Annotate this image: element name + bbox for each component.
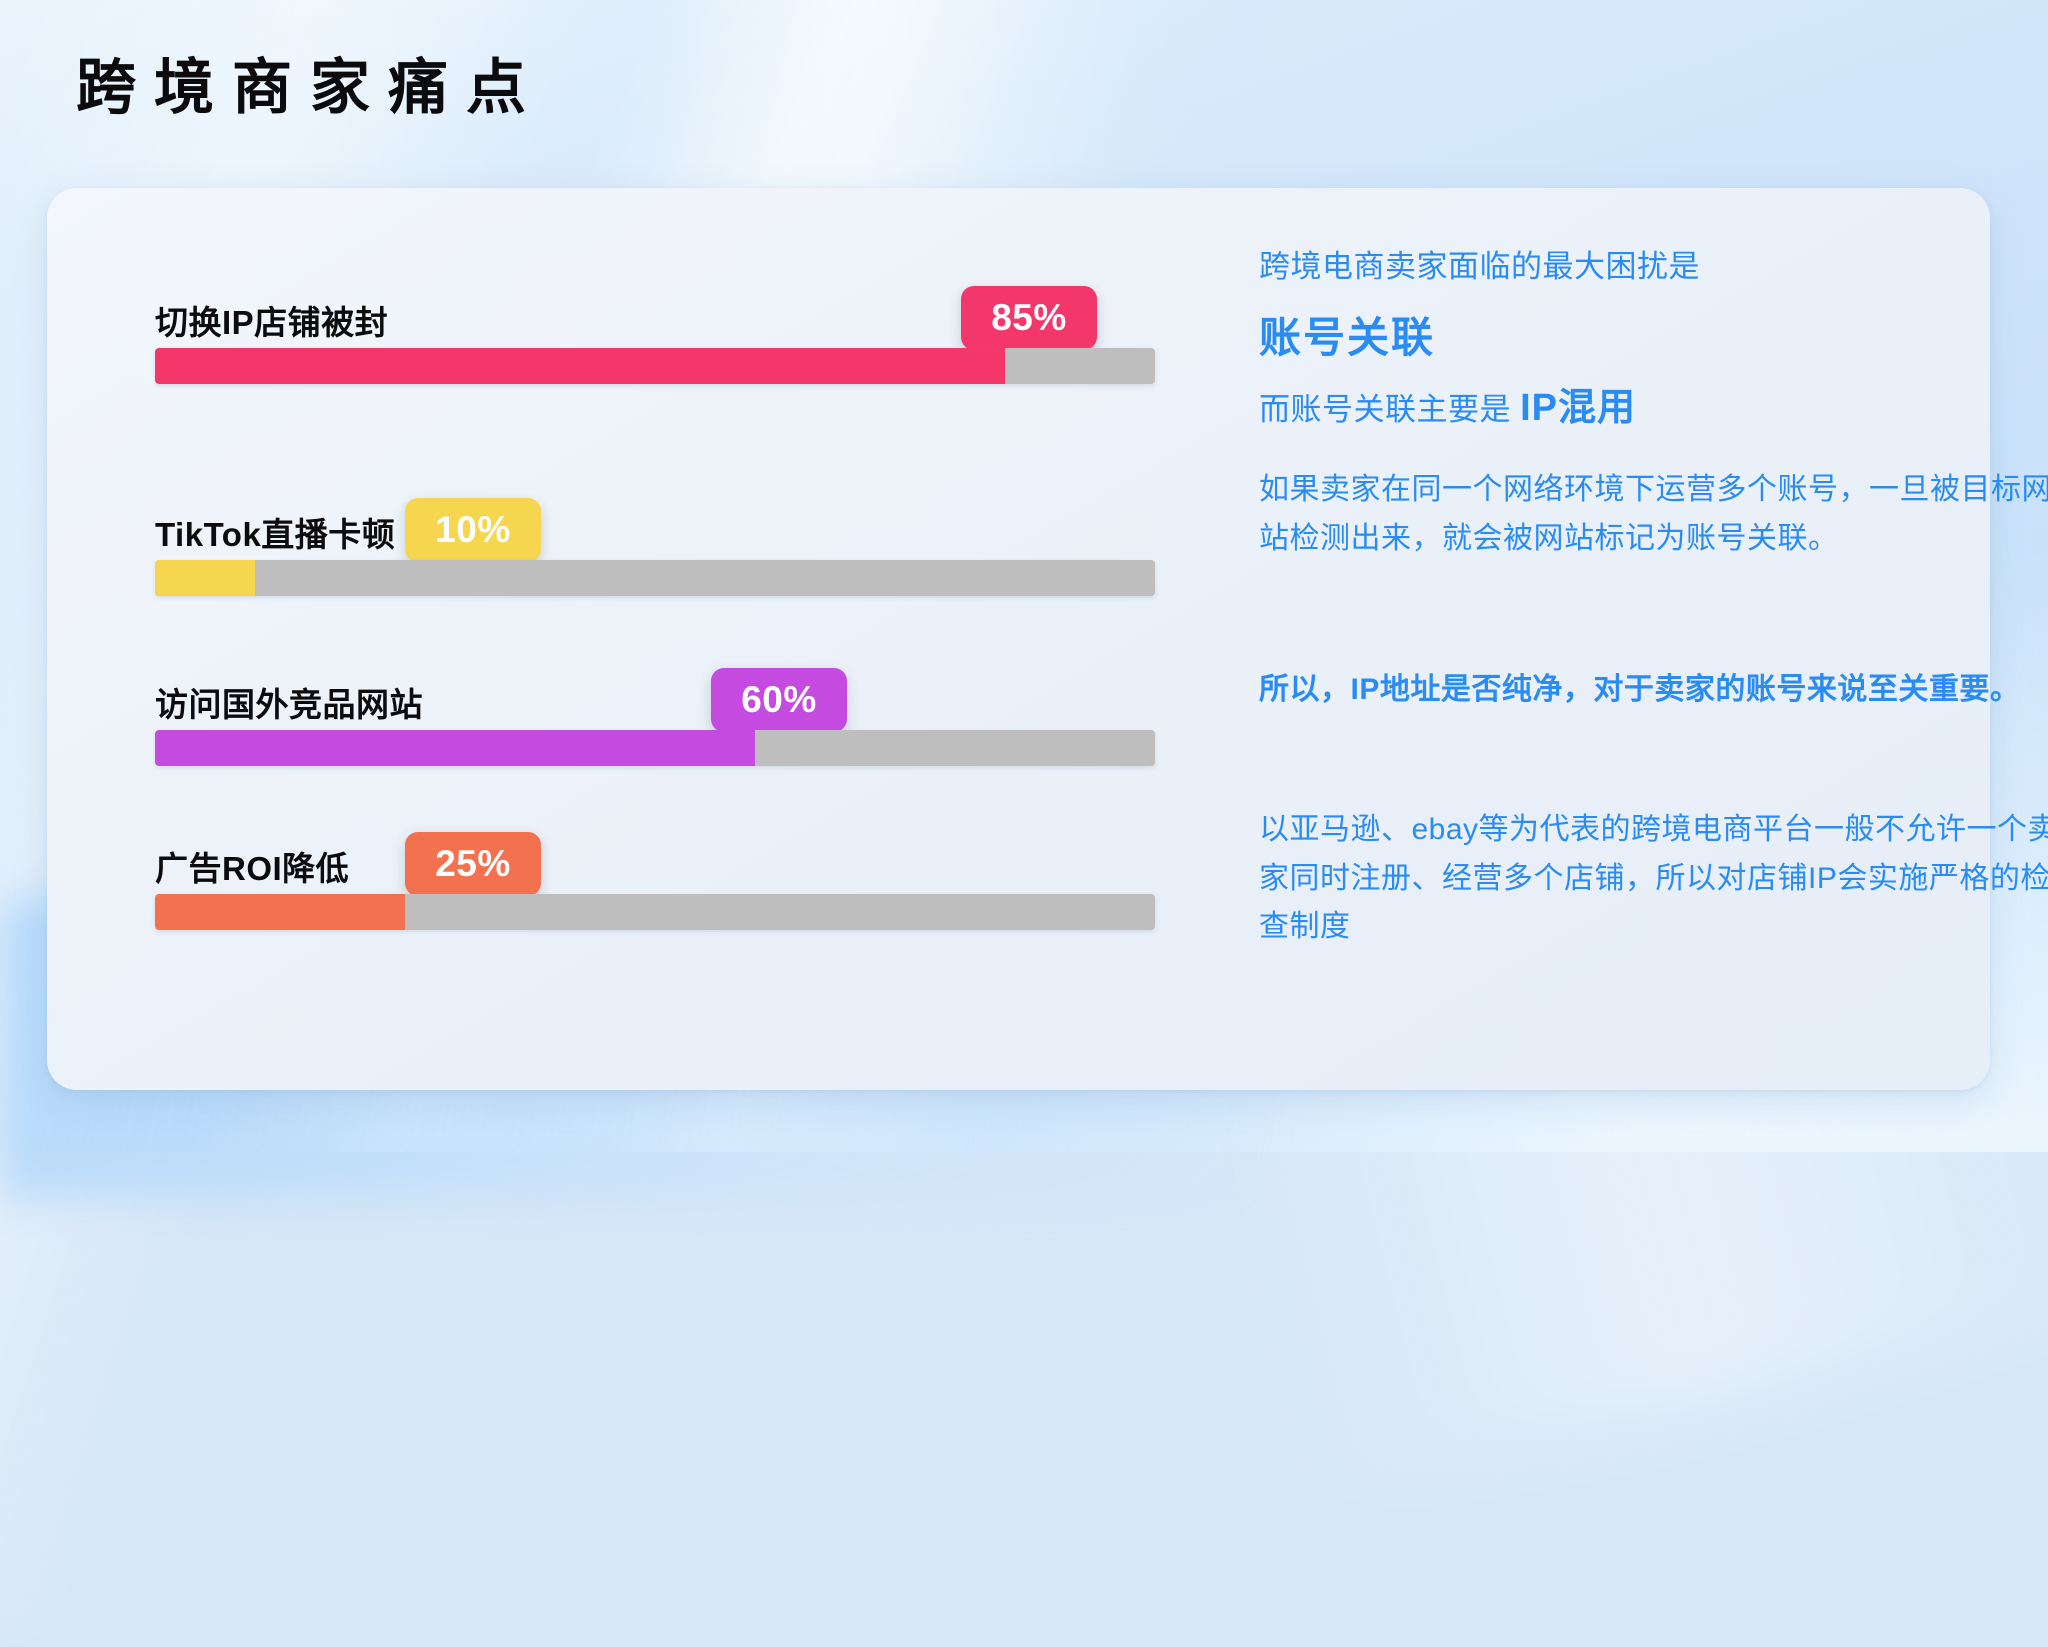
lead-text: 跨境电商卖家面临的最大困扰是 bbox=[1259, 246, 1700, 288]
bar-fill bbox=[155, 730, 755, 766]
bar-label: 切换IP店铺被封 bbox=[155, 296, 388, 344]
bar-track bbox=[155, 730, 1155, 766]
bar-chart-panel: 切换IP店铺被封 85% TikTok直播卡顿 10% 访问国外竞品网站 60% bbox=[47, 188, 1207, 1090]
paragraph-1: 如果卖家在同一个网络环境下运营多个账号，一旦被目标网站检测出来，就会被网站标记为… bbox=[1259, 466, 2048, 563]
bar-track bbox=[155, 894, 1155, 930]
bar-row: 访问国外竞品网站 60% bbox=[155, 656, 1155, 766]
content-card: 切换IP店铺被封 85% TikTok直播卡顿 10% 访问国外竞品网站 60% bbox=[47, 188, 1990, 1090]
bar-label: 访问国外竞品网站 bbox=[155, 678, 423, 726]
bar-track bbox=[155, 348, 1155, 384]
bar-value-badge: 10% bbox=[405, 498, 541, 562]
paragraph-2: 所以，IP地址是否纯净，对于卖家的账号来说至关重要。 bbox=[1259, 666, 2048, 715]
bar-header: TikTok直播卡顿 10% bbox=[155, 486, 1155, 560]
description-panel: 跨境电商卖家面临的最大困扰是 账号关联 而账号关联主要是 IP混用 如果卖家在同… bbox=[1207, 188, 1990, 1090]
bar-row: TikTok直播卡顿 10% bbox=[155, 486, 1155, 596]
bar-header: 切换IP店铺被封 85% bbox=[155, 274, 1155, 348]
bar-label: TikTok直播卡顿 bbox=[155, 508, 395, 556]
headline-text: 账号关联 bbox=[1259, 304, 1435, 365]
subline-text: 而账号关联主要是 IP混用 bbox=[1259, 376, 1636, 431]
bar-track bbox=[155, 560, 1155, 596]
bar-fill bbox=[155, 894, 405, 930]
bar-value-badge: 25% bbox=[405, 832, 541, 896]
paragraph-3: 以亚马逊、ebay等为代表的跨境电商平台一般不允许一个卖家同时注册、经营多个店铺… bbox=[1259, 806, 2048, 952]
subline-prefix: 而账号关联主要是 bbox=[1259, 392, 1520, 427]
bar-value-badge: 85% bbox=[961, 286, 1097, 350]
bar-value-badge: 60% bbox=[711, 668, 847, 732]
bar-header: 访问国外竞品网站 60% bbox=[155, 656, 1155, 730]
bar-row: 切换IP店铺被封 85% bbox=[155, 274, 1155, 384]
bar-fill bbox=[155, 348, 1005, 384]
subline-strong: IP混用 bbox=[1520, 387, 1636, 429]
bar-header: 广告ROI降低 25% bbox=[155, 820, 1155, 894]
bar-fill bbox=[155, 560, 255, 596]
bar-row: 广告ROI降低 25% bbox=[155, 820, 1155, 930]
bar-label: 广告ROI降低 bbox=[155, 842, 349, 890]
page-title: 跨境商家痛点 bbox=[76, 58, 544, 118]
